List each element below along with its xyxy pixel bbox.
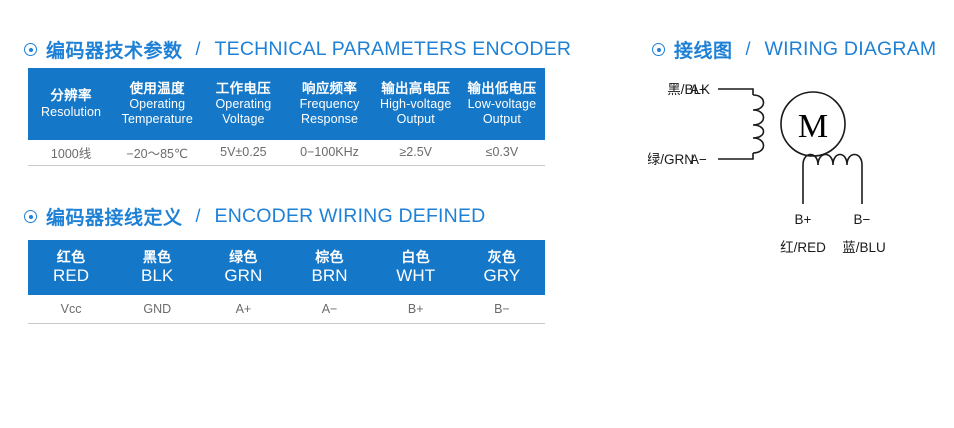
cell-resolution: 1000线 [28, 140, 114, 165]
section-title-cn: 编码器接线定义 [46, 203, 183, 230]
label-b-plus: B+ [795, 212, 812, 227]
cell-white-function: B+ [373, 295, 459, 323]
column-header-cn: 白色 [373, 249, 459, 266]
column-header-frequency-response: 响应频率 Frequency Response [286, 68, 372, 140]
column-header-high-voltage-output: 输出高电压 High-voltage Output [373, 68, 459, 140]
wiring-diagram-svg: M 黑/BLK 绿/GRN A+ A− B+ B− 红/RED 蓝/BLU [648, 62, 948, 262]
wiring-diagram-figure: M 黑/BLK 绿/GRN A+ A− B+ B− 红/RED 蓝/BLU [648, 62, 948, 262]
spec-sheet-page: 编码器技术参数 / TECHNICAL PARAMETERS ENCODER 分… [0, 0, 954, 428]
section-title-cn: 编码器技术参数 [46, 36, 183, 63]
column-header-cn: 响应频率 [286, 81, 372, 97]
column-header-operating-voltage: 工作电压 Operating Voltage [200, 68, 286, 140]
cell-red-function: Vcc [28, 295, 114, 323]
section-title-separator: / [196, 206, 201, 227]
cell-brown-function: A− [286, 295, 372, 323]
a-minus-lead-line [718, 153, 753, 159]
table-header-row: 分辨率 Resolution 使用温度 Operating Temperatur… [28, 68, 545, 140]
column-header-operating-temperature: 使用温度 Operating Temperature [114, 68, 200, 140]
cell-black-function: GND [114, 295, 200, 323]
section-title-separator: / [746, 39, 751, 60]
label-green-wire: 绿/GRN [648, 152, 694, 167]
encoder-wiring-table: 红色 RED 黑色 BLK 绿色 GRN 棕色 BRN 白色 WHT [28, 240, 545, 324]
column-header-en: Frequency Response [286, 97, 372, 128]
column-header-en: Operating Voltage [200, 97, 286, 128]
cell-low-voltage-output: ≤0.3V [459, 140, 545, 165]
circle-dot-icon [24, 43, 37, 56]
column-header-resolution: 分辨率 Resolution [28, 68, 114, 140]
label-b-minus: B− [854, 212, 871, 227]
table-row: Vcc GND A+ A− B+ B− [28, 295, 545, 323]
section-heading-wiring-diagram: 接线图 / WIRING DIAGRAM [652, 36, 936, 63]
column-header-black: 黑色 BLK [114, 240, 200, 295]
technical-parameters-table: 分辨率 Resolution 使用温度 Operating Temperatur… [28, 68, 545, 166]
cell-operating-voltage: 5V±0.25 [200, 140, 286, 165]
column-header-green: 绿色 GRN [200, 240, 286, 295]
column-header-en: Resolution [28, 105, 114, 120]
column-header-en: GRY [459, 266, 545, 286]
section-heading-encoder-wiring-defined: 编码器接线定义 / ENCODER WIRING DEFINED [24, 203, 485, 230]
label-blue-wire: 蓝/BLU [842, 240, 886, 255]
label-a-minus: A− [690, 152, 707, 167]
cell-high-voltage-output: ≥2.5V [373, 140, 459, 165]
column-header-cn: 黑色 [114, 249, 200, 266]
column-header-en: GRN [200, 266, 286, 286]
column-header-gray: 灰色 GRY [459, 240, 545, 295]
circle-dot-icon [24, 210, 37, 223]
cell-frequency-response: 0−100KHz [286, 140, 372, 165]
label-a-plus: A+ [690, 82, 707, 97]
column-header-en: High-voltage Output [373, 97, 459, 128]
column-header-cn: 使用温度 [114, 81, 200, 97]
column-header-white: 白色 WHT [373, 240, 459, 295]
section-title-cn: 接线图 [674, 36, 733, 63]
cell-green-function: A+ [200, 295, 286, 323]
column-header-cn: 工作电压 [200, 81, 286, 97]
column-header-cn: 输出高电压 [373, 81, 459, 97]
a-plus-lead-line [718, 89, 753, 95]
column-header-en: Low-voltage Output [459, 97, 545, 128]
column-header-cn: 红色 [28, 249, 114, 266]
column-header-cn: 分辨率 [28, 88, 114, 104]
column-header-cn: 绿色 [200, 249, 286, 266]
column-header-en: Operating Temperature [114, 97, 200, 128]
section-title-separator: / [196, 39, 201, 60]
column-header-cn: 棕色 [286, 249, 372, 266]
section-title-en: WIRING DIAGRAM [765, 38, 937, 61]
column-header-red: 红色 RED [28, 240, 114, 295]
section-heading-technical-parameters: 编码器技术参数 / TECHNICAL PARAMETERS ENCODER [24, 36, 571, 63]
motor-symbol-label: M [798, 108, 828, 145]
column-header-low-voltage-output: 输出低电压 Low-voltage Output [459, 68, 545, 140]
section-title-en: TECHNICAL PARAMETERS ENCODER [215, 38, 572, 61]
column-header-en: RED [28, 266, 114, 286]
column-header-cn: 灰色 [459, 249, 545, 266]
column-header-brown: 棕色 BRN [286, 240, 372, 295]
label-red-wire: 红/RED [780, 240, 826, 255]
column-header-en: BRN [286, 266, 372, 286]
column-header-en: WHT [373, 266, 459, 286]
column-header-cn: 输出低电压 [459, 81, 545, 97]
coil-phase-a [753, 95, 764, 153]
table-header-row: 红色 RED 黑色 BLK 绿色 GRN 棕色 BRN 白色 WHT [28, 240, 545, 295]
section-title-en: ENCODER WIRING DEFINED [215, 205, 486, 228]
table-row: 1000线 −20～85℃ 5V±0.25 0−100KHz ≥2.5V ≤0.… [28, 140, 545, 165]
column-header-en: BLK [114, 266, 200, 286]
cell-operating-temperature: −20～85℃ [114, 140, 200, 165]
circle-dot-icon [652, 43, 665, 56]
cell-gray-function: B− [459, 295, 545, 323]
